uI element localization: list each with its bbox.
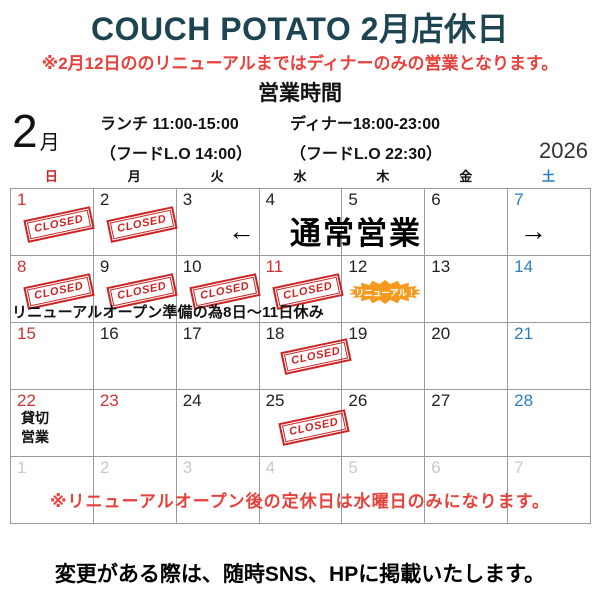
weekday-header: 日月火水木金土 (10, 166, 590, 185)
closed-stamp: CLOSED (280, 338, 351, 375)
calendar-cell[interactable]: 6 (425, 457, 508, 524)
calendar-cell[interactable]: 10CLOSED (177, 256, 260, 323)
calendar-cell[interactable]: 1CLOSED (11, 189, 94, 256)
calendar-cell[interactable]: 24 (177, 390, 260, 457)
calendar-cell[interactable]: 7 (508, 189, 591, 256)
day-number: 5 (348, 191, 357, 210)
calendar-cell[interactable]: 20 (425, 323, 508, 390)
calendar-cell[interactable]: 18CLOSED (260, 323, 343, 390)
charter-label: 貸切営業 (21, 409, 49, 447)
charter-line-1: 貸切 (21, 409, 49, 428)
renewal-badge-label: リニューアル！ (348, 280, 422, 304)
hours-row-lastorder: （フードL.O 14:00） （フードL.O 22:30） (100, 140, 500, 164)
day-number: 5 (348, 459, 357, 478)
calendar-cell[interactable]: 25CLOSED (260, 390, 343, 457)
day-number: 18 (266, 325, 285, 344)
lunch-hours: ランチ 11:00-15:00 (100, 110, 290, 134)
calendar-cell[interactable]: 3 (177, 457, 260, 524)
day-number: 1 (17, 459, 26, 478)
closed-stamp-label: CLOSED (281, 413, 345, 443)
closed-stamp-label: CLOSED (27, 277, 91, 307)
day-number: 26 (348, 392, 367, 411)
calendar-cell[interactable]: 11CLOSED (260, 256, 343, 323)
day-number: 7 (514, 459, 523, 478)
weekday-5: 金 (424, 166, 507, 185)
day-number: 24 (183, 392, 202, 411)
calendar-cell[interactable]: 5 (342, 457, 425, 524)
day-number: 7 (514, 191, 523, 210)
calendar-grid: 1CLOSED2CLOSED345678CLOSED9CLOSED10CLOSE… (10, 188, 591, 524)
day-number: 10 (183, 258, 202, 277)
day-number: 22 (17, 392, 36, 411)
calendar-cell[interactable]: 17 (177, 323, 260, 390)
calendar-cell[interactable]: 22貸切営業 (11, 390, 94, 457)
calendar-cell[interactable]: 26 (342, 390, 425, 457)
calendar-poster: COUCH POTATO 2月店休日 ※2月12日ののリニューアルまではディナー… (0, 0, 600, 600)
calendar-cell[interactable]: 3 (177, 189, 260, 256)
calendar-cell[interactable]: 27 (425, 390, 508, 457)
weekday-3: 水 (259, 166, 342, 185)
month-kanji: 月 (40, 126, 60, 155)
closed-stamp: CLOSED (278, 409, 349, 446)
weekday-4: 木 (341, 166, 424, 185)
closed-stamp: CLOSED (106, 206, 177, 243)
day-number: 8 (17, 258, 26, 277)
day-number: 17 (183, 325, 202, 344)
day-number: 19 (348, 325, 367, 344)
calendar-cell[interactable]: 14 (508, 256, 591, 323)
month-number: 2 (12, 108, 38, 154)
day-number: 25 (266, 392, 285, 411)
day-number: 2 (100, 459, 109, 478)
closed-stamp: CLOSED (189, 273, 260, 310)
weekday-0: 日 (10, 166, 93, 185)
renewal-badge: リニューアル！ (348, 280, 422, 304)
day-number: 2 (100, 191, 109, 210)
closed-stamp-label: CLOSED (193, 277, 257, 307)
calendar-cell[interactable]: 6 (425, 189, 508, 256)
day-number: 12 (348, 258, 367, 277)
closed-stamp-label: CLOSED (110, 210, 174, 240)
calendar-cell[interactable]: 1 (11, 457, 94, 524)
calendar-cell[interactable]: 28 (508, 390, 591, 457)
weekday-2: 火 (176, 166, 259, 185)
calendar-cell[interactable]: 12リニューアル！ (342, 256, 425, 323)
dinner-last-order: （フードL.O 22:30） (290, 140, 490, 164)
closed-stamp-label: CLOSED (27, 210, 91, 240)
day-number: 21 (514, 325, 533, 344)
calendar-cell[interactable]: 13 (425, 256, 508, 323)
calendar-cell[interactable]: 2 (94, 457, 177, 524)
month-label: 2 月 (12, 108, 60, 154)
day-number: 11 (266, 258, 284, 277)
day-number: 6 (431, 191, 440, 210)
day-number: 3 (183, 191, 192, 210)
calendar-cell[interactable]: 16 (94, 323, 177, 390)
day-number: 23 (100, 392, 119, 411)
closed-stamp-label: CLOSED (283, 342, 347, 372)
day-number: 3 (183, 459, 192, 478)
closed-stamp: CLOSED (106, 273, 177, 310)
lunch-last-order: （フードL.O 14:00） (100, 140, 290, 164)
day-number: 16 (100, 325, 119, 344)
calendar-cell[interactable]: 4 (260, 457, 343, 524)
day-number: 9 (100, 258, 109, 277)
calendar-cell[interactable]: 4 (260, 189, 343, 256)
day-number: 15 (17, 325, 36, 344)
day-number: 20 (431, 325, 450, 344)
hours-heading: 営業時間 (0, 77, 600, 107)
day-number: 14 (514, 258, 533, 277)
day-number: 4 (266, 191, 275, 210)
calendar-cell[interactable]: 19 (342, 323, 425, 390)
calendar-cell[interactable]: 5 (342, 189, 425, 256)
calendar-cell[interactable]: 15 (11, 323, 94, 390)
day-number: 4 (266, 459, 275, 478)
business-hours: ランチ 11:00-15:00 ディナー18:00-23:00 （フードL.O … (100, 110, 500, 170)
hours-row-main: ランチ 11:00-15:00 ディナー18:00-23:00 (100, 110, 500, 134)
calendar-cell[interactable]: 21 (508, 323, 591, 390)
calendar-cell[interactable]: 2CLOSED (94, 189, 177, 256)
closed-stamp-label: CLOSED (275, 277, 339, 307)
calendar-cell[interactable]: 9CLOSED (94, 256, 177, 323)
weekday-6: 土 (507, 166, 590, 185)
calendar-cell[interactable]: 8CLOSED (11, 256, 94, 323)
closed-stamp-label: CLOSED (110, 277, 174, 307)
footer-note: 変更がある際は、随時SNS、HPに掲載いたします。 (0, 558, 600, 588)
page-title: COUCH POTATO 2月店休日 (0, 4, 600, 50)
day-number: 28 (514, 392, 533, 411)
dinner-hours: ディナー18:00-23:00 (290, 110, 490, 134)
weekday-1: 月 (93, 166, 176, 185)
day-number: 1 (17, 191, 26, 210)
day-number: 13 (431, 258, 450, 277)
closed-stamp: CLOSED (272, 273, 343, 310)
renewal-notice: ※2月12日ののリニューアルまではディナーのみの営業となります。 (0, 49, 600, 74)
closed-stamp: CLOSED (23, 273, 94, 310)
day-number: 6 (431, 459, 440, 478)
day-number: 27 (431, 392, 450, 411)
charter-line-2: 営業 (21, 428, 49, 447)
calendar-cell[interactable]: 23 (94, 390, 177, 457)
calendar-cell[interactable]: 7 (508, 457, 591, 524)
closed-stamp: CLOSED (23, 206, 94, 243)
year-label: 2026 (539, 138, 588, 164)
